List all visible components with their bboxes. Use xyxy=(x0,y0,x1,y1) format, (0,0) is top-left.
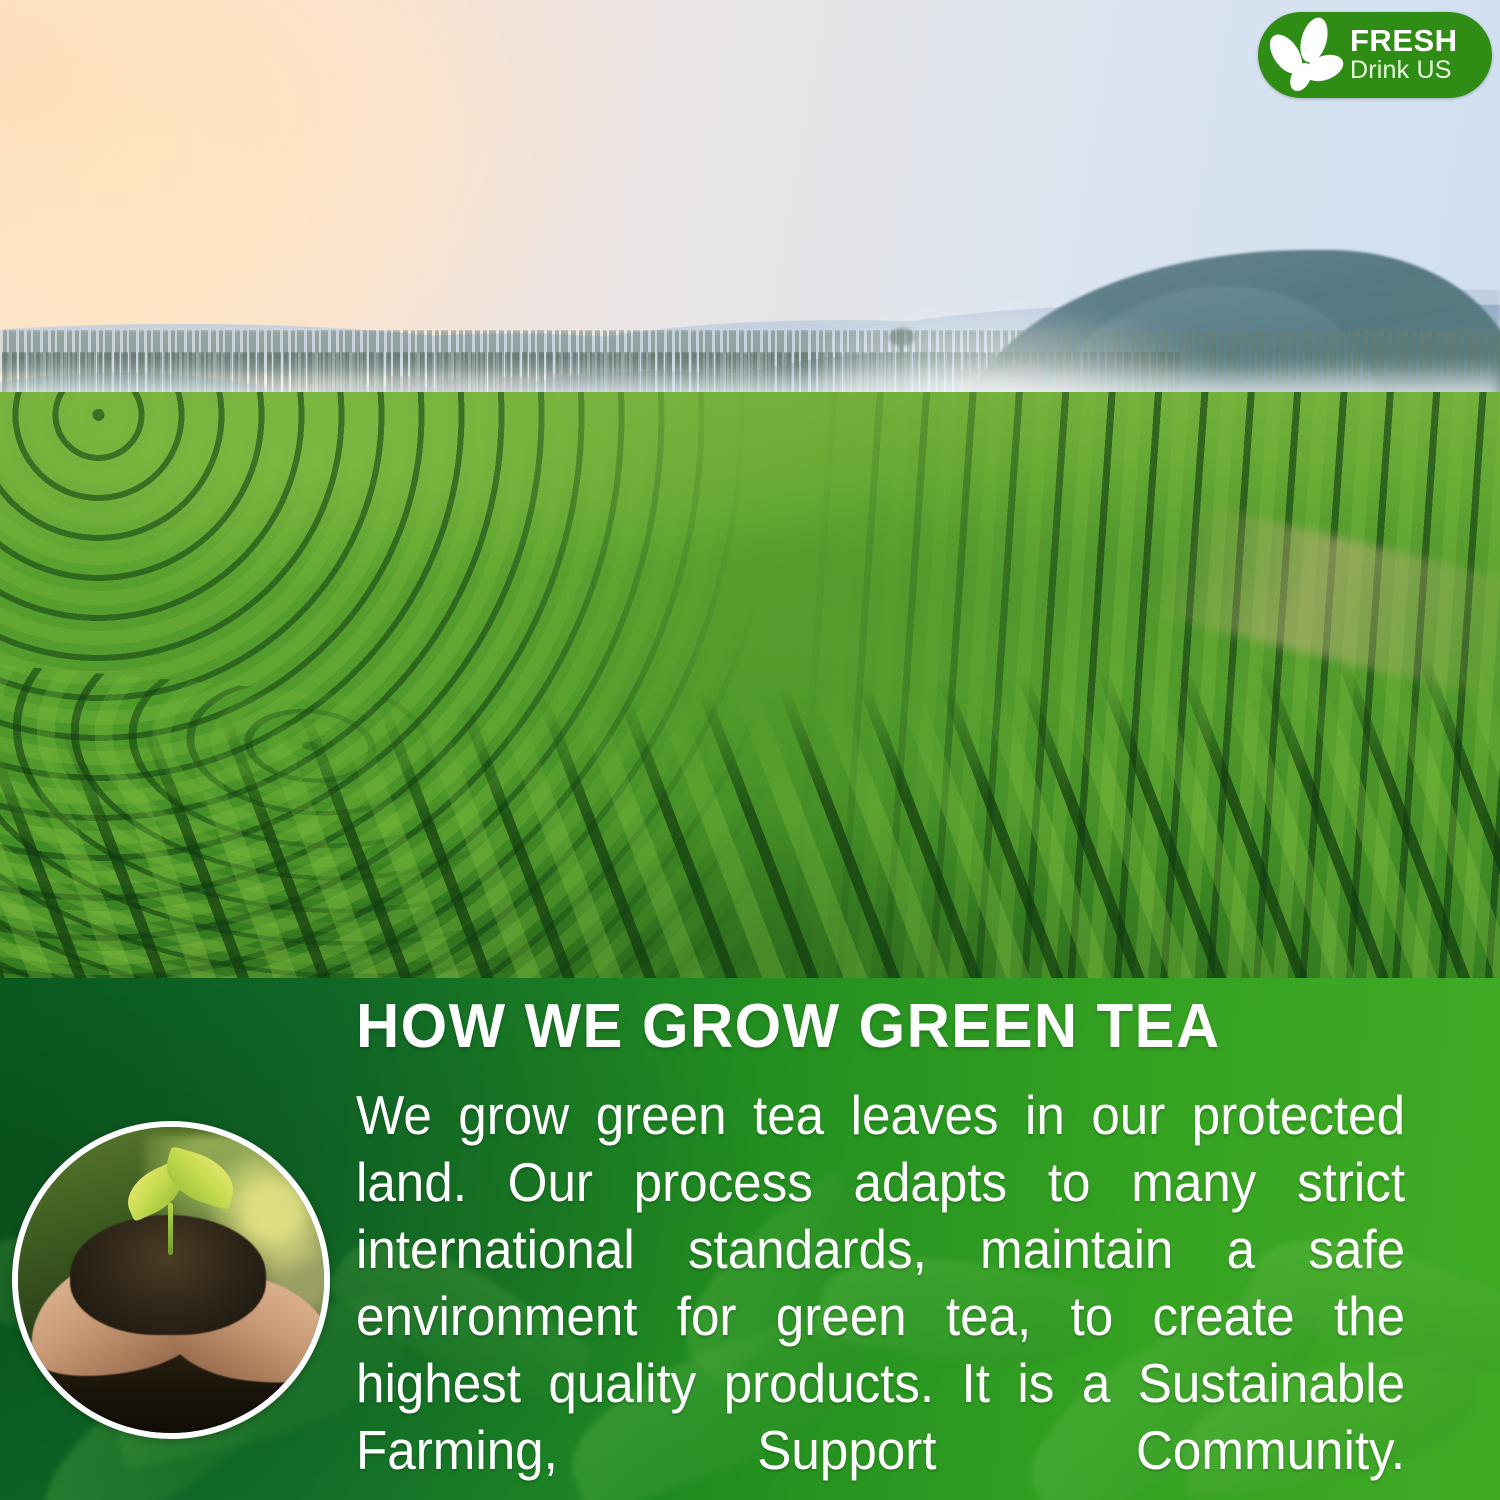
body-paragraph: We grow green tea leaves in our protecte… xyxy=(356,1082,1405,1500)
page-title: HOW WE GROW GREEN TEA xyxy=(356,996,1446,1058)
sprout-stem xyxy=(168,1203,173,1255)
four-leaf-icon xyxy=(1258,14,1350,96)
logo-primary-text: FRESH xyxy=(1350,25,1458,56)
tea-plantation-photo xyxy=(0,0,1500,980)
brand-logo-badge[interactable]: FRESH Drink US xyxy=(1258,12,1492,98)
logo-secondary-text: Drink US xyxy=(1350,58,1458,83)
field-grain-texture xyxy=(0,392,1500,980)
poster-canvas: FRESH Drink US HOW WE GROW GRE xyxy=(0,0,1500,1500)
logo-text-group: FRESH Drink US xyxy=(1350,25,1458,85)
tea-field xyxy=(0,392,1500,980)
hands-holding-soil-sprout-photo xyxy=(12,1121,330,1439)
